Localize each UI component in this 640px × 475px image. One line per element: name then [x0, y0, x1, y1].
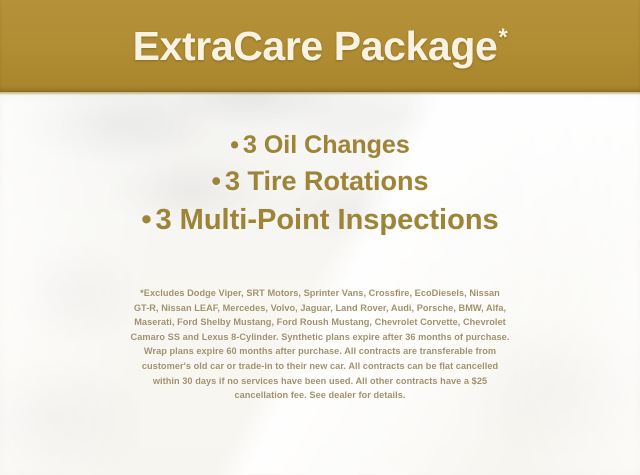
- page-title: ExtraCare Package*: [133, 26, 508, 67]
- benefit-label: 3 Multi-Point Inspections: [155, 204, 498, 236]
- list-item: •3 Tire Rotations: [0, 167, 640, 195]
- fineprint-line: within 30 days if no services have been …: [38, 374, 602, 389]
- bullet-icon: •: [230, 131, 243, 159]
- list-item: •3 Oil Changes: [0, 132, 640, 158]
- benefit-label: 3 Tire Rotations: [225, 166, 429, 196]
- benefit-label: 3 Oil Changes: [243, 131, 410, 159]
- fineprint-line: Camaro SS and Lexus 8-Cylinder. Syntheti…: [38, 330, 602, 345]
- header-band: ExtraCare Package*: [0, 0, 640, 92]
- fineprint-line: Wrap plans expire 60 months after purcha…: [38, 344, 602, 359]
- benefits-list: •3 Oil Changes •3 Tire Rotations •3 Mult…: [0, 132, 640, 235]
- fineprint-line: GT-R, Nissan LEAF, Mercedes, Volvo, Jagu…: [38, 301, 602, 316]
- title-asterisk: *: [498, 24, 507, 51]
- fineprint-line: *Excludes Dodge Viper, SRT Motors, Sprin…: [38, 286, 602, 301]
- header-underline: [0, 92, 640, 95]
- bullet-icon: •: [212, 166, 225, 196]
- fineprint-line: cancellation fee. See dealer for details…: [38, 388, 602, 403]
- fineprint-line: customer's old car or trade-in to their …: [38, 359, 602, 374]
- extracare-package-ad: ExtraCare Package* •3 Oil Changes •3 Tir…: [0, 0, 640, 475]
- bullet-icon: •: [141, 204, 155, 236]
- fineprint-disclaimer: *Excludes Dodge Viper, SRT Motors, Sprin…: [38, 286, 602, 403]
- fineprint-line: Maserati, Ford Shelby Mustang, Ford Rous…: [38, 315, 602, 330]
- list-item: •3 Multi-Point Inspections: [0, 205, 640, 235]
- page-title-text: ExtraCare Package: [133, 23, 498, 69]
